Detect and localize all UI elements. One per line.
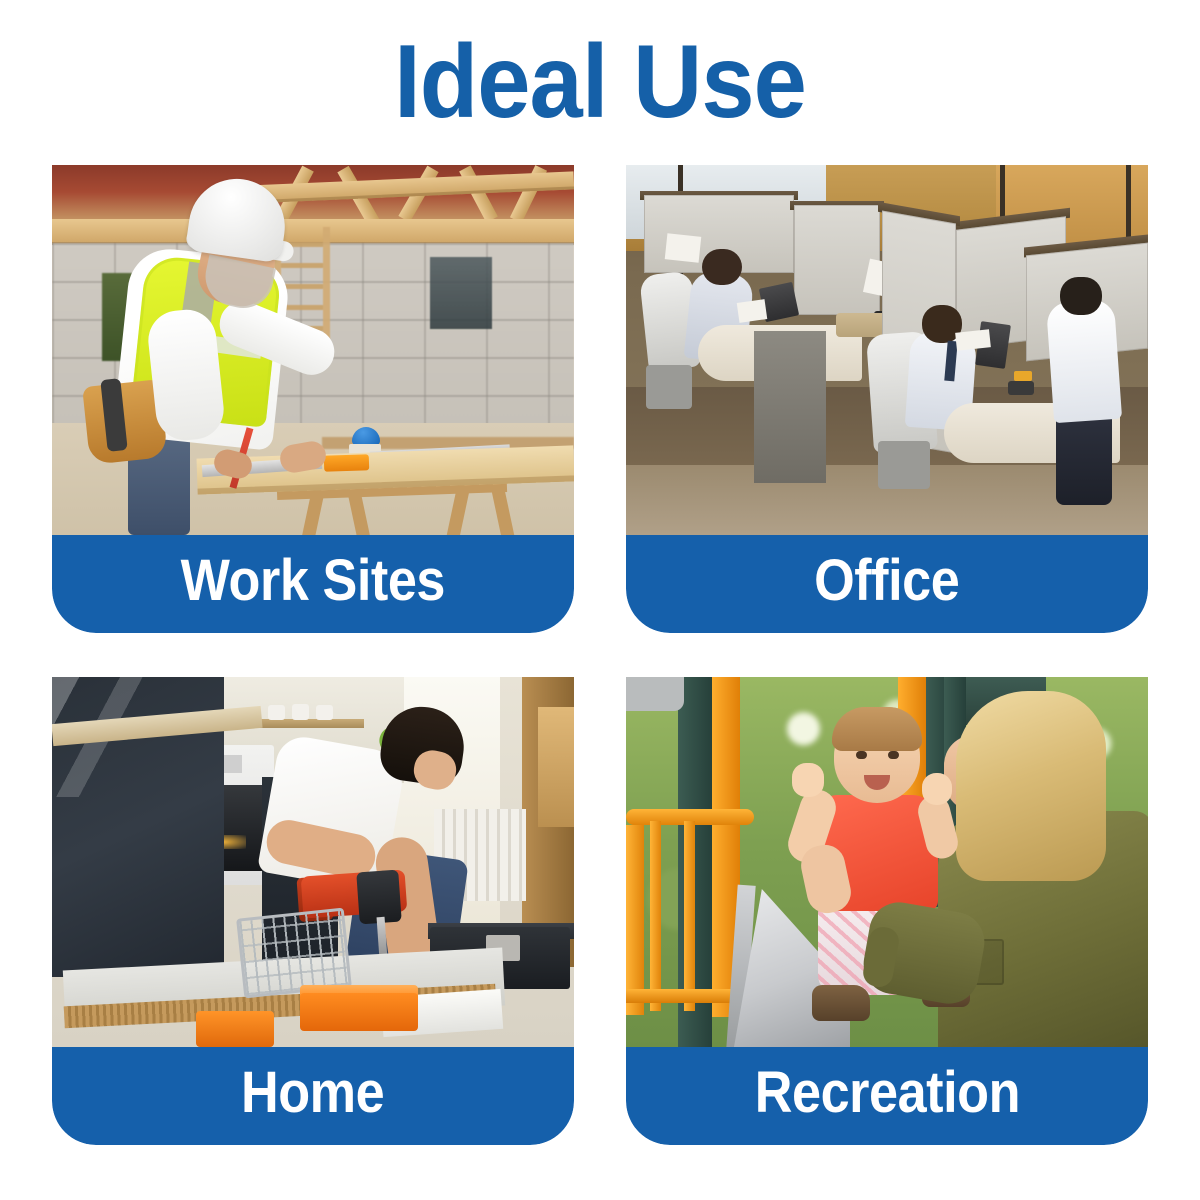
use-case-card-recreation[interactable]: Recreation [626, 677, 1148, 1145]
recreation-label-bar: Recreation [626, 1047, 1148, 1145]
use-case-card-office[interactable]: Office [626, 165, 1148, 633]
office-photo [626, 165, 1148, 535]
page-title: Ideal Use [48, 26, 1152, 138]
recreation-photo [626, 677, 1148, 1047]
work-sites-label: Work Sites [181, 551, 445, 617]
use-case-card-home[interactable]: Home [52, 677, 574, 1145]
work-sites-label-bar: Work Sites [52, 535, 574, 633]
office-cubicles-illustration [626, 165, 1148, 535]
use-case-card-work-sites[interactable]: Work Sites [52, 165, 574, 633]
construction-site-illustration [52, 165, 574, 535]
home-diy-kitchen-illustration [52, 677, 574, 1047]
playground-illustration [626, 677, 1148, 1047]
office-label-bar: Office [626, 535, 1148, 633]
home-label: Home [241, 1063, 384, 1129]
home-label-bar: Home [52, 1047, 574, 1145]
office-label: Office [814, 551, 959, 617]
recreation-label: Recreation [754, 1063, 1019, 1129]
home-photo [52, 677, 574, 1047]
use-case-card-grid: Work Sites [52, 165, 1148, 1145]
ideal-use-infographic: Ideal Use [0, 0, 1200, 1200]
work-sites-photo [52, 165, 574, 535]
